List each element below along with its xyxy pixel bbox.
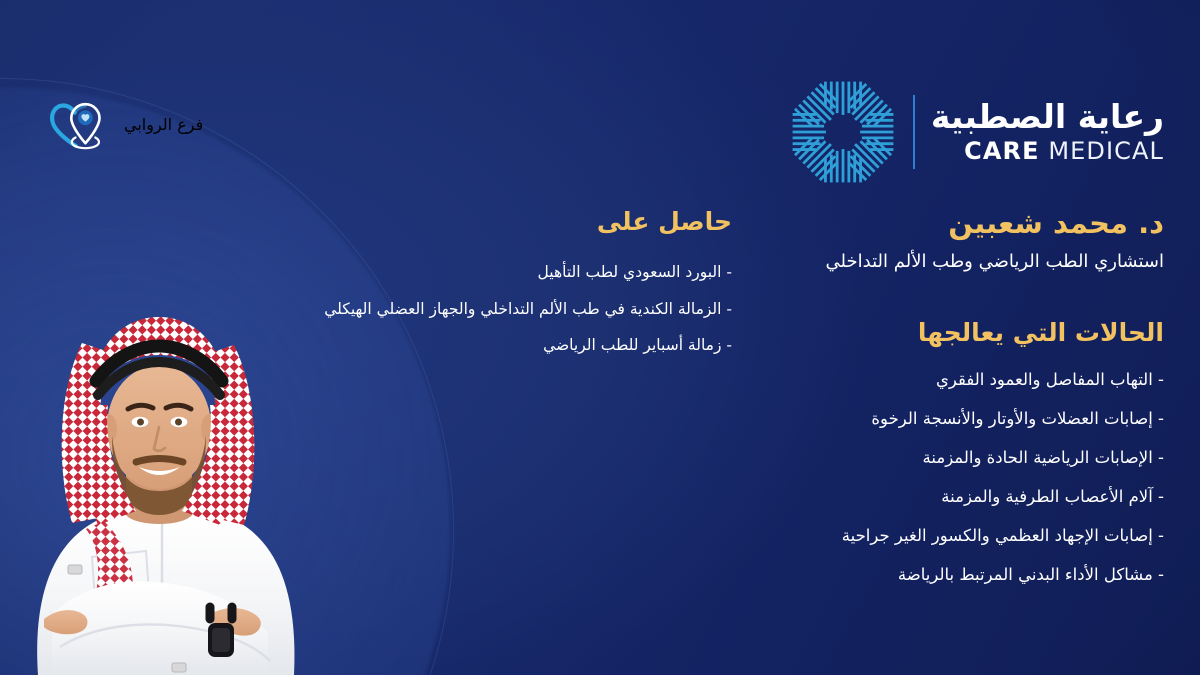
- brand-name-medical: MEDICAL: [1040, 137, 1164, 165]
- doctor-info-column: د. محمد شعبين استشاري الطب الرياضي وطب ا…: [744, 206, 1164, 601]
- list-item: - التهاب المفاصل والعمود الفقري: [744, 368, 1164, 392]
- doctor-role: استشاري الطب الرياضي وطب الألم التداخلي: [744, 250, 1164, 274]
- branch-label: فرع الروابي: [124, 115, 203, 134]
- brand-wordmark: رعاية الصطبية CARE MEDICAL: [931, 99, 1164, 164]
- radial-burst-logo-icon: [789, 78, 897, 186]
- list-item: - الزمالة الكندية في طب الألم التداخلي و…: [432, 298, 732, 320]
- doctor-portrait: [0, 215, 346, 675]
- brand-name-arabic: رعاية الصطبية: [931, 99, 1164, 135]
- list-item: - الإصابات الرياضية الحادة والمزمنة: [744, 446, 1164, 470]
- branch-badge: فرع الروابي: [46, 96, 203, 152]
- list-item: - البورد السعودي لطب التأهيل: [432, 261, 732, 283]
- qualifications-column: حاصل على - البورد السعودي لطب التأهيل - …: [432, 206, 732, 371]
- list-item: - إصابات الإجهاد العظمي والكسور الغير جر…: [744, 524, 1164, 548]
- decorative-arc-glow: [0, 88, 450, 675]
- qualifications-list: - البورد السعودي لطب التأهيل - الزمالة ا…: [432, 261, 732, 356]
- conditions-heading: الحالات التي يعالجها: [744, 317, 1164, 348]
- doctor-name: د. محمد شعبين: [744, 206, 1164, 241]
- brand-name-care: CARE: [964, 137, 1039, 165]
- list-item: - زمالة أسباير للطب الرياضي: [432, 334, 732, 356]
- conditions-list: - التهاب المفاصل والعمود الفقري - إصابات…: [744, 368, 1164, 587]
- slide-canvas: فرع الروابي رعاية الصطبية CARE MEDICAL: [0, 0, 1200, 675]
- list-item: - إصابات العضلات والأوتار والأنسجة الرخو…: [744, 407, 1164, 431]
- location-pin-heart-icon: [46, 96, 108, 152]
- qualifications-heading: حاصل على: [432, 206, 732, 237]
- decorative-arc-edge: [0, 78, 454, 675]
- brand-name-english: CARE MEDICAL: [931, 138, 1164, 164]
- list-item: - آلام الأعصاب الطرفية والمزمنة: [744, 485, 1164, 509]
- list-item: - مشاكل الأداء البدني المرتبط بالرياضة: [744, 563, 1164, 587]
- brand-lockup: رعاية الصطبية CARE MEDICAL: [789, 78, 1164, 186]
- brand-divider: [913, 95, 915, 169]
